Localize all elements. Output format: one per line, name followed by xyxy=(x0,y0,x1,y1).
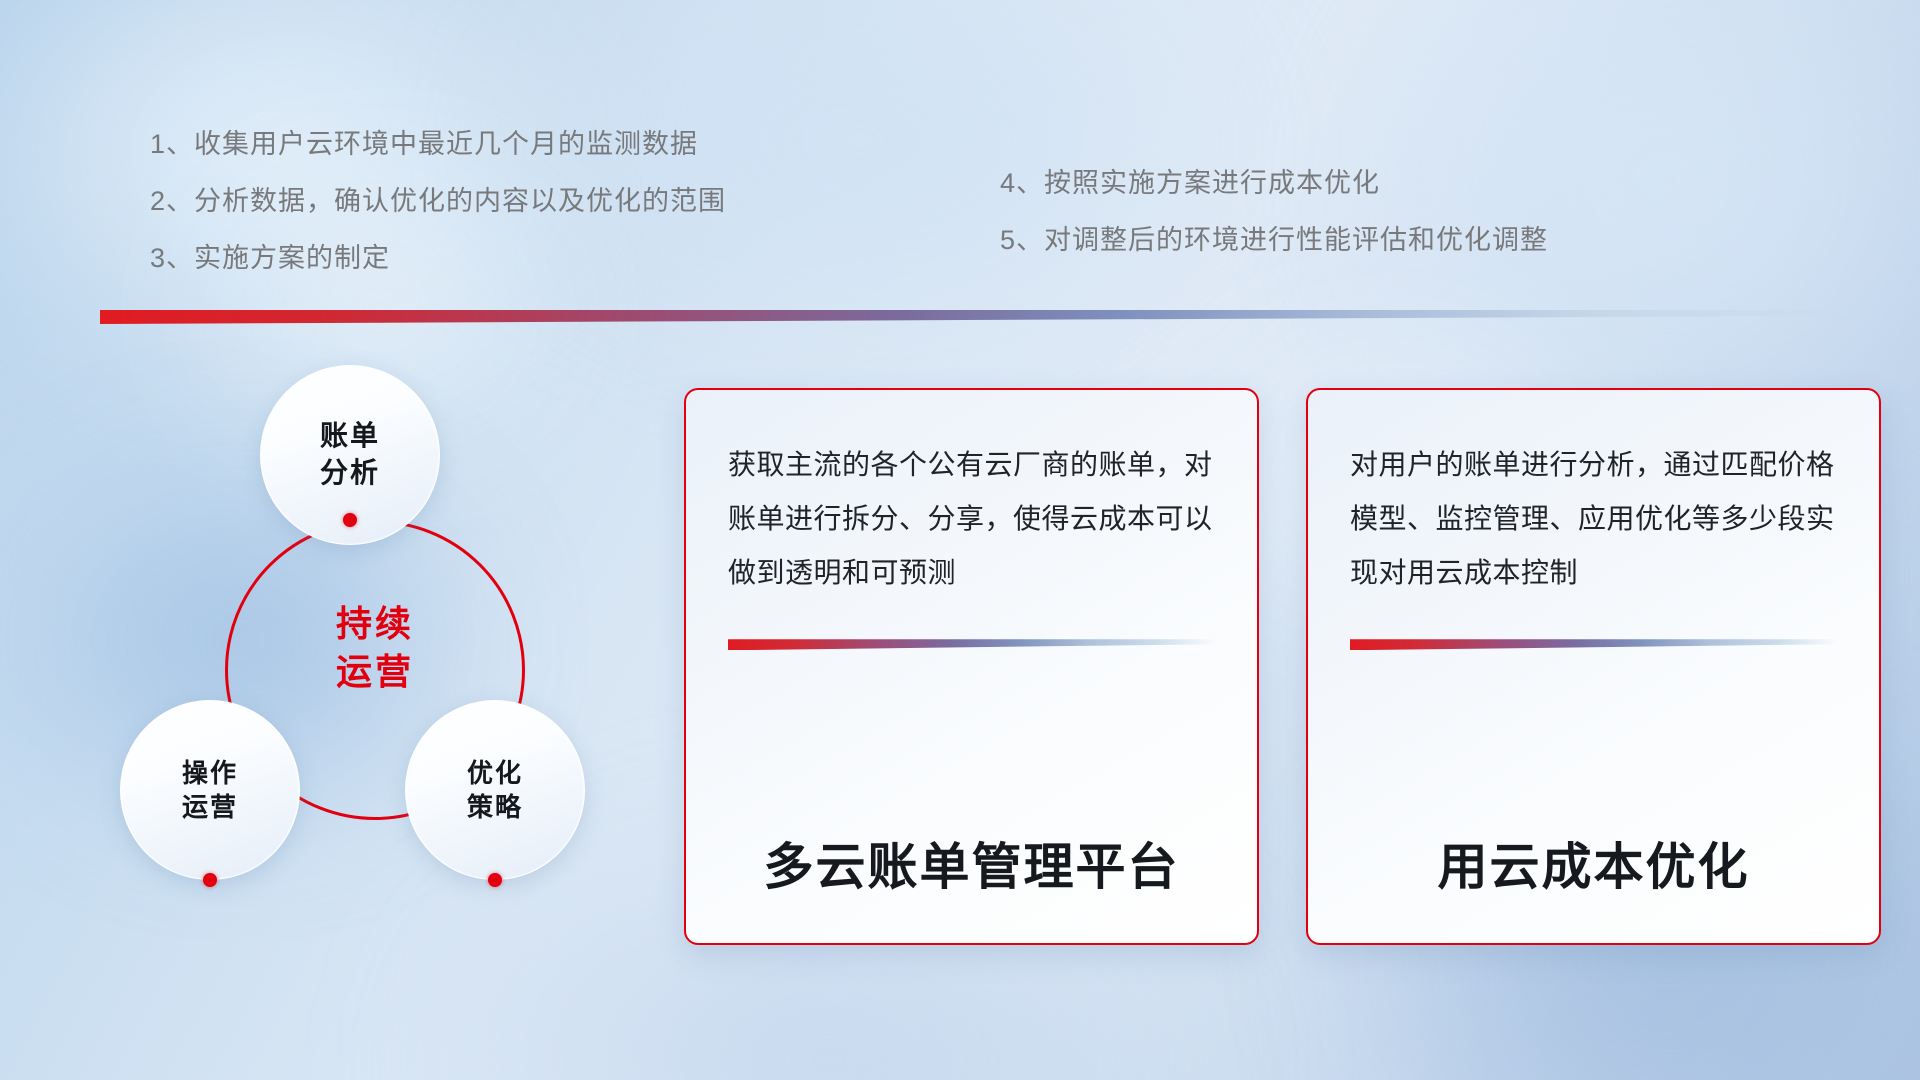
continuous-operation-diagram: 持续 运营 账单 分析 操作 运营 优化 策略 xyxy=(100,345,630,945)
center-label-line-1: 持续 xyxy=(225,600,525,648)
steps-right-column: 4、按照实施方案进行成本优化 5、对调整后的环境进行性能评估和优化调整 xyxy=(1000,155,1548,269)
diagram-node-operation-management[interactable]: 操作 运营 xyxy=(120,700,300,880)
feature-card-multicloud-billing[interactable]: 获取主流的各个公有云厂商的账单，对账单进行拆分、分享，使得云成本可以做到透明和可… xyxy=(684,388,1259,945)
feature-card-2-rule xyxy=(1350,639,1837,650)
node-optimization-strategy-line-2: 策略 xyxy=(467,790,523,824)
diagram-node-optimization-strategy[interactable]: 优化 策略 xyxy=(405,700,585,880)
node-billing-analysis-line-2: 分析 xyxy=(320,455,380,492)
step-item-3: 3、实施方案的制定 xyxy=(150,230,726,287)
step-item-5: 5、对调整后的环境进行性能评估和优化调整 xyxy=(1000,212,1548,269)
section-divider-bar xyxy=(100,310,1860,324)
node-billing-analysis-line-1: 账单 xyxy=(320,418,380,455)
step-item-4: 4、按照实施方案进行成本优化 xyxy=(1000,155,1548,212)
feature-card-cloud-cost-optimization[interactable]: 对用户的账单进行分析，通过匹配价格模型、监控管理、应用优化等多少段实现对用云成本… xyxy=(1306,388,1881,945)
diagram-dot-top xyxy=(343,513,357,527)
step-item-2: 2、分析数据，确认优化的内容以及优化的范围 xyxy=(150,173,726,230)
section-divider xyxy=(100,310,1860,324)
steps-left-column: 1、收集用户云环境中最近几个月的监测数据 2、分析数据，确认优化的内容以及优化的… xyxy=(150,116,726,287)
diagram-dot-bottom-left xyxy=(203,873,217,887)
node-operation-management-line-2: 运营 xyxy=(182,790,238,824)
feature-card-2-title: 用云成本优化 xyxy=(1350,827,1837,943)
diagram-center-label: 持续 运营 xyxy=(225,600,525,695)
feature-card-1-rule xyxy=(728,639,1215,650)
center-label-line-2: 运营 xyxy=(225,648,525,696)
step-item-1: 1、收集用户云环境中最近几个月的监测数据 xyxy=(150,116,726,173)
feature-card-2-body: 对用户的账单进行分析，通过匹配价格模型、监控管理、应用优化等多少段实现对用云成本… xyxy=(1350,438,1837,599)
feature-card-1-body: 获取主流的各个公有云厂商的账单，对账单进行拆分、分享，使得云成本可以做到透明和可… xyxy=(728,438,1215,599)
node-operation-management-line-1: 操作 xyxy=(182,756,238,790)
feature-card-1-title: 多云账单管理平台 xyxy=(728,827,1215,943)
node-optimization-strategy-line-1: 优化 xyxy=(467,756,523,790)
diagram-dot-bottom-right xyxy=(488,873,502,887)
